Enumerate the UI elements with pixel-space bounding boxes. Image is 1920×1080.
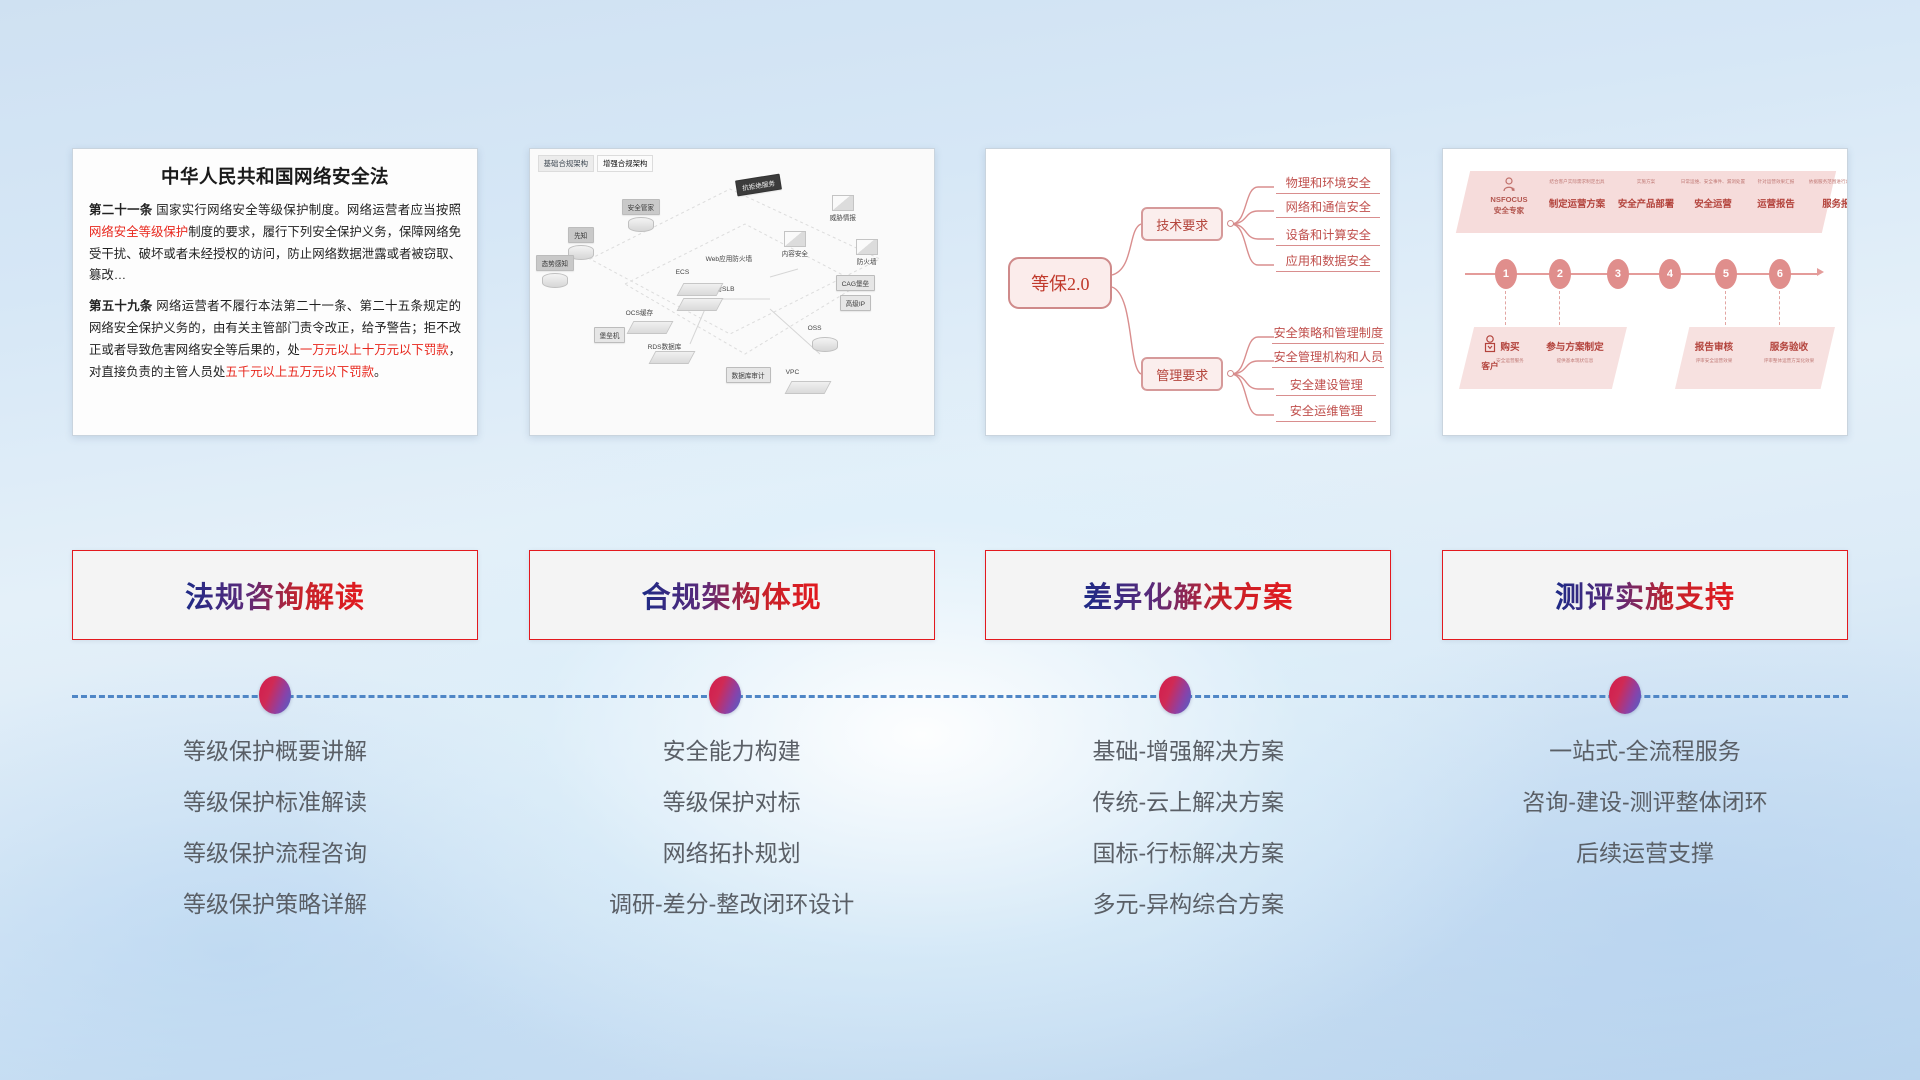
roadmap-step-title: 服务报告 (1793, 196, 1848, 210)
roadmap-step-sub: 结合客户实际需求制定出具 (1539, 179, 1615, 185)
roadmap-step-sub: 日常运维、安全事件、漏洞处置 (1671, 179, 1755, 185)
roadmap-top-step: 实施方案 安全产品部署 (1613, 179, 1679, 210)
column-assessment-support: 一站式-全流程服务 咨询-建设-测评整体闭环 后续运营支撑 (1442, 740, 1848, 944)
service-roadmap: NSFOCUS 安全专家 结合客户实际需求制定出具 制定运营方案 实施方案 安全… (1443, 149, 1847, 435)
law-paragraph-1: 第二十一条 国家实行网络安全等级保护制度。网络运营者应当按照网络安全等级保护制度… (89, 200, 461, 287)
expert-name-line2: 安全专家 (1477, 206, 1541, 216)
reference-cards-row: 中华人民共和国网络安全法 第二十一条 国家实行网络安全等级保护制度。网络运营者应… (0, 148, 1920, 444)
list-item: 一站式-全流程服务 (1442, 740, 1848, 763)
heading-label: 测评实施支持 (1555, 574, 1735, 616)
arch-chip-label: 堡垒机 (594, 327, 626, 343)
mindmap-leaf: 安全建设管理 (1276, 375, 1376, 396)
timeline (0, 676, 1920, 716)
arch-node-situational-awareness: 态势感知 (536, 255, 574, 289)
roadmap-step-title: 参与方案制定 (1535, 339, 1615, 353)
arch-node-oss: OSS (808, 325, 822, 332)
law-text-highlight: 网络安全等级保护 (89, 225, 188, 239)
list-item: 等级保护对标 (529, 791, 935, 814)
column-compliance-architecture: 安全能力构建 等级保护对标 网络拓扑规划 调研-差分-整改闭环设计 (529, 740, 935, 944)
card-cybersecurity-law: 中华人民共和国网络安全法 第二十一条 国家实行网络安全等级保护制度。网络运营者应… (72, 148, 478, 436)
arch-node-ecs: ECS (676, 269, 690, 276)
mindmap-leaf: 物理和环境安全 (1276, 173, 1380, 194)
list-item: 国标-行标解决方案 (985, 842, 1391, 865)
arch-node-cag: CAG堡垒 (836, 275, 875, 291)
list-item: 多元-异构综合方案 (985, 893, 1391, 916)
mindmap-leaf: 网络和通信安全 (1276, 197, 1380, 218)
arch-box-icon (856, 239, 878, 255)
roadmap-step-number: 1 (1495, 259, 1517, 289)
law-text-seg: 。 (374, 365, 386, 379)
mindmap-branch-technical: 技术要求 (1141, 207, 1223, 241)
arch-rds-stack (652, 349, 692, 365)
arch-node-label: 防火墙 (856, 256, 878, 266)
roadmap-connector (1779, 291, 1780, 325)
heading-box-compliance-architecture[interactable]: 合规架构体现 (529, 550, 935, 640)
mindmap-leaf: 安全策略和管理制度 (1272, 323, 1384, 344)
arch-node-high-ip: 高级IP (840, 295, 871, 311)
timeline-dot[interactable] (1159, 676, 1191, 714)
timeline-dot[interactable] (259, 676, 291, 714)
roadmap-expert-block: NSFOCUS 安全专家 (1477, 177, 1541, 216)
arch-box-icon (784, 231, 806, 247)
list-item: 等级保护概要讲解 (72, 740, 478, 763)
mindmap: 等保2.0 技术要求 物理和环境安全 网络和通信安全 设备和计算安全 应用和数据… (986, 149, 1390, 435)
law-paragraph-2: 第五十九条 网络运营者不履行本法第二十一条、第二十五条规定的网络安全保护义务的，… (89, 296, 461, 383)
arch-node-content-security: 内容安全 (782, 229, 808, 258)
heading-box-regulation-consulting[interactable]: 法规咨询解读 (72, 550, 478, 640)
arch-node-vpc: VPC (786, 369, 800, 376)
arch-chip-label: 态势感知 (536, 255, 574, 271)
roadmap-step-sub: 依据服务范围进行总体运营效果 (1793, 179, 1848, 185)
arch-vpc-stack (788, 379, 828, 395)
arch-node-firewall: 防火墙 (856, 237, 878, 266)
arch-node-security-butler: 安全管家 (622, 199, 660, 233)
roadmap-step-number: 3 (1607, 259, 1629, 289)
roadmap-step-sub: 实施方案 (1613, 179, 1679, 185)
heading-label: 合规架构体现 (642, 574, 822, 616)
roadmap-top-step: 依据服务范围进行总体运营效果 服务报告 (1793, 179, 1848, 210)
section-headings-row: 法规咨询解读 合规架构体现 差异化解决方案 测评实施支持 (0, 550, 1920, 640)
timeline-dashed-line (72, 695, 1848, 698)
expert-person-icon (1501, 177, 1517, 192)
arch-node-waf: Web应用防火墙 (706, 253, 752, 263)
roadmap-bottom-step: 购买 安全运营服务 (1487, 339, 1533, 364)
arch-node-label: 内容安全 (782, 248, 808, 258)
architecture-diagram: 基础合规架构 增强合规架构 先知 (530, 149, 934, 435)
roadmap-step-title: 制定运营方案 (1539, 196, 1615, 210)
arch-chip-label: 数据库审计 (726, 367, 771, 383)
roadmap-step-number: 6 (1769, 259, 1791, 289)
law-text-highlight: 五千元以上五万元以下罚款 (225, 365, 374, 379)
law-text-highlight: 一万元以上十万元以下罚款 (300, 343, 449, 357)
roadmap-top-step: 结合客户实际需求制定出具 制定运营方案 (1539, 179, 1615, 210)
roadmap-bottom-step: 参与方案制定 提供基本现状信息 (1535, 339, 1615, 364)
arch-chip-label: 高级IP (840, 295, 871, 311)
roadmap-step-sub: 评审安全运营效果 (1683, 358, 1745, 364)
list-item: 等级保护标准解读 (72, 791, 478, 814)
column-differentiated-solutions: 基础-增强解决方案 传统-云上解决方案 国标-行标解决方案 多元-异构综合方案 (985, 740, 1391, 944)
list-item: 等级保护策略详解 (72, 893, 478, 916)
roadmap-bottom-step: 服务验收 评审整体运营方案化效果 (1751, 339, 1827, 364)
mindmap-leaf: 安全管理机构和人员 (1272, 347, 1384, 368)
arch-node-threat-intel: 威胁情报 (830, 193, 856, 222)
heading-label: 差异化解决方案 (1083, 574, 1293, 616)
heading-box-differentiated-solutions[interactable]: 差异化解决方案 (985, 550, 1391, 640)
law-document: 中华人民共和国网络安全法 第二十一条 国家实行网络安全等级保护制度。网络运营者应… (73, 149, 477, 394)
law-text-seg: 国家实行网络安全等级保护制度。网络运营者应当按照 (153, 203, 461, 217)
roadmap-step-title: 安全运营 (1671, 196, 1755, 210)
heading-box-assessment-support[interactable]: 测评实施支持 (1442, 550, 1848, 640)
arch-node-bastion-host: 堡垒机 (594, 327, 626, 343)
arch-node-label: 威胁情报 (830, 212, 856, 222)
mindmap-leaf: 设备和计算安全 (1276, 225, 1380, 246)
list-item: 网络拓扑规划 (529, 842, 935, 865)
roadmap-step-number: 5 (1715, 259, 1737, 289)
arch-chip-label: 先知 (568, 227, 594, 243)
roadmap-bottom-step: 报告审核 评审安全运营效果 (1683, 339, 1745, 364)
roadmap-step-title: 购买 (1487, 339, 1533, 353)
law-title: 中华人民共和国网络安全法 (89, 163, 461, 189)
roadmap-step-number: 4 (1659, 259, 1681, 289)
arch-oss-stack (812, 335, 838, 353)
arch-ecs-stack (680, 281, 720, 312)
list-item: 等级保护流程咨询 (72, 842, 478, 865)
law-article-number-2: 第五十九条 (89, 299, 153, 313)
arch-cylinder-icon (628, 217, 654, 232)
roadmap-connector (1559, 291, 1560, 325)
roadmap-step-sub: 评审整体运营方案化效果 (1751, 358, 1827, 364)
roadmap-connector (1725, 291, 1726, 325)
detail-columns-row: 等级保护概要讲解 等级保护标准解读 等级保护流程咨询 等级保护策略详解 安全能力… (0, 740, 1920, 944)
arch-ocs-stack (630, 319, 670, 335)
list-item: 后续运营支撑 (1442, 842, 1848, 865)
roadmap-step-title: 服务验收 (1751, 339, 1827, 353)
list-item: 传统-云上解决方案 (985, 791, 1391, 814)
roadmap-connector (1505, 291, 1506, 325)
roadmap-step-title: 报告审核 (1683, 339, 1745, 353)
roadmap-step-sub: 安全运营服务 (1487, 358, 1533, 364)
arch-chip-label: CAG堡垒 (836, 275, 875, 291)
arch-chip-label: 安全管家 (622, 199, 660, 215)
card-service-roadmap: NSFOCUS 安全专家 结合客户实际需求制定出具 制定运营方案 实施方案 安全… (1442, 148, 1848, 436)
card-dengbao-mindmap: 等保2.0 技术要求 物理和环境安全 网络和通信安全 设备和计算安全 应用和数据… (985, 148, 1391, 436)
mindmap-leaf: 应用和数据安全 (1276, 251, 1380, 272)
list-item: 基础-增强解决方案 (985, 740, 1391, 763)
arch-cylinder-icon (542, 273, 568, 288)
mindmap-branch-management: 管理要求 (1141, 357, 1223, 391)
roadmap-axis-line (1465, 273, 1817, 275)
arch-node-ocs: OCS缓存 (626, 307, 653, 317)
expert-name-line1: NSFOCUS (1477, 195, 1541, 205)
mindmap-leaf: 安全运维管理 (1276, 401, 1376, 422)
roadmap-step-sub: 提供基本现状信息 (1535, 358, 1615, 364)
mindmap-root-node: 等保2.0 (1008, 257, 1112, 309)
card-compliance-architecture: 基础合规架构 增强合规架构 先知 (529, 148, 935, 436)
heading-label: 法规咨询解读 (185, 574, 365, 616)
timeline-dot[interactable] (709, 676, 741, 714)
roadmap-step-title: 安全产品部署 (1613, 196, 1679, 210)
roadmap-top-step: 日常运维、安全事件、漏洞处置 安全运营 (1671, 179, 1755, 210)
arch-box-icon (832, 195, 854, 211)
roadmap-step-number: 2 (1549, 259, 1571, 289)
list-item: 调研-差分-整改闭环设计 (529, 893, 935, 916)
roadmap-axis-arrow-icon (1817, 268, 1824, 276)
list-item: 咨询-建设-测评整体闭环 (1442, 791, 1848, 814)
list-item: 安全能力构建 (529, 740, 935, 763)
column-regulation-consulting: 等级保护概要讲解 等级保护标准解读 等级保护流程咨询 等级保护策略详解 (72, 740, 478, 944)
arch-node-db-audit: 数据库审计 (726, 367, 771, 383)
roadmap-top-steps: NSFOCUS 安全专家 结合客户实际需求制定出具 制定运营方案 实施方案 安全… (1463, 171, 1829, 233)
timeline-dot[interactable] (1609, 676, 1641, 714)
law-article-number-1: 第二十一条 (89, 203, 153, 217)
